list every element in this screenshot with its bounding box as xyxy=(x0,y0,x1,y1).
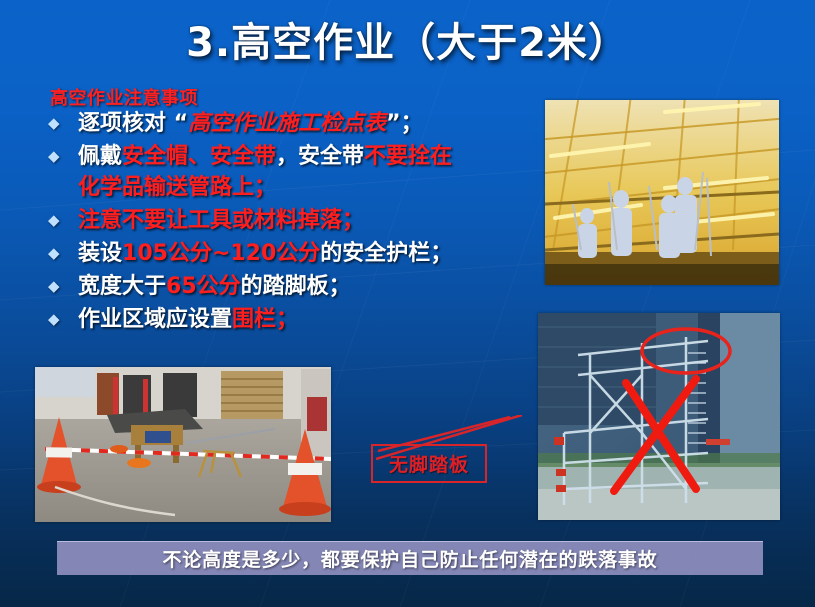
photo-workers-on-scaffolding xyxy=(545,100,779,285)
bullet-segment: 安全帽、安全带 xyxy=(122,144,276,169)
bullet-line: 化学品输送管路上； xyxy=(78,172,452,203)
bullet-text: 装设105公分~120公分的安全护栏； xyxy=(78,238,452,269)
bullet-diamond-icon: ◆ xyxy=(48,238,78,268)
bullet-segment: ； xyxy=(401,111,423,136)
bullet-item-work-area-fence: ◆作业区域应设置围栏； xyxy=(48,304,518,335)
bottom-banner: 不论高度是多少，都要保护自己防止任何潜在的跌落事故 xyxy=(57,541,763,575)
bullet-diamond-icon: ◆ xyxy=(48,141,78,171)
bullet-segment: 105公分~120公分 xyxy=(122,241,320,266)
bullet-segment: “ xyxy=(166,111,188,136)
bullet-item-footboard-width: ◆宽度大于65公分的踏脚板； xyxy=(48,271,518,302)
bullet-segment: 不要拴在 xyxy=(364,144,452,169)
bullet-diamond-icon: ◆ xyxy=(48,205,78,235)
bullet-segment: 作业区域应设置 xyxy=(78,307,232,332)
bullet-segment: 围栏； xyxy=(232,307,298,332)
slide-canvas: 3.高空作业（大于2米） 高空作业注意事项 ◆逐项核对 “高空作业施工检点表”；… xyxy=(0,0,815,607)
page-title: 3.高空作业（大于2米） xyxy=(0,10,815,68)
bullet-text: 佩戴安全帽、安全带，安全带不要拴在化学品输送管路上； xyxy=(78,141,452,203)
bullet-text: 宽度大于65公分的踏脚板； xyxy=(78,271,351,302)
bullet-segment: 宽度大于 xyxy=(78,274,166,299)
bullet-segment: 佩戴 xyxy=(78,144,122,169)
bullet-text: 作业区域应设置围栏； xyxy=(78,304,298,335)
section-subheading: 高空作业注意事项 xyxy=(50,84,198,110)
bullet-segment: 化学品输送管路上； xyxy=(78,175,276,200)
bullet-text: 注意不要让工具或材料掉落； xyxy=(78,205,364,236)
bullet-line: 逐项核对 “高空作业施工检点表”； xyxy=(78,108,423,139)
bullet-item-wear-ppe: ◆佩戴安全帽、安全带，安全带不要拴在化学品输送管路上； xyxy=(48,141,518,203)
bottom-banner-text: 不论高度是多少，都要保护自己防止任何潜在的跌落事故 xyxy=(162,545,657,572)
bullet-diamond-icon: ◆ xyxy=(48,271,78,301)
bullet-segment: 高空作业施工检点表 xyxy=(188,111,386,136)
bullet-item-guardrail-height: ◆装设105公分~120公分的安全护栏； xyxy=(48,238,518,269)
bullet-segment: 的安全护栏； xyxy=(320,241,452,266)
bullet-segment: 65公分 xyxy=(166,274,241,299)
bullet-segment: 逐项核对 xyxy=(78,111,166,136)
annotation-no-footboard: 无脚踏板 xyxy=(371,444,487,483)
bullet-diamond-icon: ◆ xyxy=(48,108,78,138)
bullet-line: 佩戴安全帽、安全带，安全带不要拴在 xyxy=(78,141,452,172)
bullet-list: ◆逐项核对 “高空作业施工检点表”；◆佩戴安全帽、安全带，安全带不要拴在化学品输… xyxy=(48,108,518,337)
bullet-segment: 装设 xyxy=(78,241,122,266)
bullet-item-no-dropping: ◆注意不要让工具或材料掉落； xyxy=(48,205,518,236)
bullet-diamond-icon: ◆ xyxy=(48,304,78,334)
bullet-segment: 的踏脚板； xyxy=(241,274,351,299)
photo-barricaded-work-area xyxy=(35,367,331,522)
bullet-line: 宽度大于65公分的踏脚板； xyxy=(78,271,351,302)
bullet-item-check-list: ◆逐项核对 “高空作业施工检点表”； xyxy=(48,108,518,139)
bullet-segment: ，安全带 xyxy=(276,144,364,169)
photo-scaffolding-no-footboard xyxy=(538,313,780,520)
bullet-line: 作业区域应设置围栏； xyxy=(78,304,298,335)
annotation-label: 无脚踏板 xyxy=(389,450,469,477)
bullet-line: 注意不要让工具或材料掉落； xyxy=(78,205,364,236)
bullet-text: 逐项核对 “高空作业施工检点表”； xyxy=(78,108,423,139)
bullet-segment: ” xyxy=(386,111,400,136)
bullet-line: 装设105公分~120公分的安全护栏； xyxy=(78,238,452,269)
bullet-segment: 注意不要让工具或材料掉落； xyxy=(78,208,364,233)
